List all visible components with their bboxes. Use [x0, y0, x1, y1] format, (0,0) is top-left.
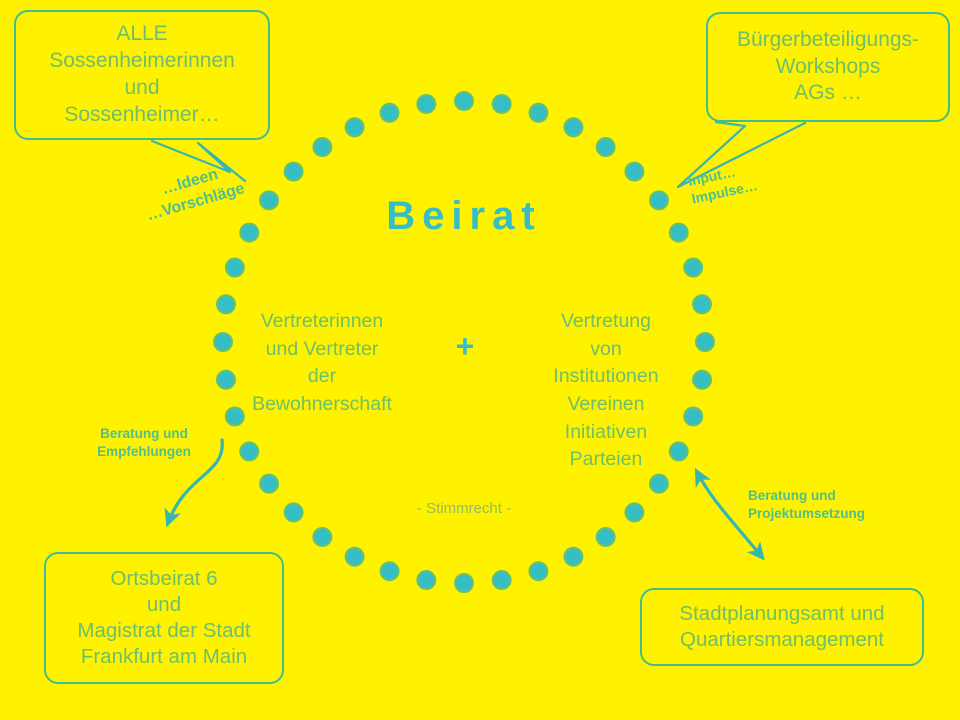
plus-icon: + — [449, 330, 481, 362]
speech-bubble-workshops-text: Bürgerbeteiligungs- Workshops AGs … — [708, 27, 948, 108]
page-title: Beirat — [224, 196, 704, 236]
ring-dot — [455, 574, 473, 592]
ring-dot — [564, 548, 582, 566]
ring-dot — [260, 475, 278, 493]
ring-dot — [346, 118, 364, 136]
diagram-canvas: ALLE Sossenheimerinnen und Sossenheimer…… — [0, 0, 960, 720]
speech-bubble-workshops[interactable]: Bürgerbeteiligungs- Workshops AGs … — [706, 12, 950, 122]
ring-dot — [346, 548, 364, 566]
box-ortsbeirat-text: Ortsbeirat 6 und Magistrat der Stadt Fra… — [46, 566, 282, 671]
speech-bubble-residents[interactable]: ALLE Sossenheimerinnen und Sossenheimer… — [14, 10, 270, 140]
ring-dot — [381, 562, 399, 580]
column-bewohnerschaft: Vertreterinnen und Vertreter der Bewohne… — [224, 308, 420, 419]
ring-dot — [564, 118, 582, 136]
ring-dot — [226, 259, 244, 277]
stimmrecht-note: - Stimmrecht - — [344, 500, 584, 517]
column-institutionen: Vertretung von Institutionen Vereinen In… — [508, 308, 704, 474]
annotation-beratung-projektumsetzung: Beratung und Projektumsetzung — [748, 487, 918, 522]
ring-dot — [493, 571, 511, 589]
ring-dot — [529, 562, 547, 580]
ring-dot — [597, 528, 615, 546]
ring-dot — [285, 163, 303, 181]
ring-dot — [625, 163, 643, 181]
ring-dot — [285, 503, 303, 521]
annotation-beratung-empfehlungen: Beratung und Empfehlungen — [74, 425, 214, 460]
ring-dot — [625, 503, 643, 521]
ring-dot — [381, 104, 399, 122]
ring-dot — [417, 571, 435, 589]
speech-bubble-residents-text: ALLE Sossenheimerinnen und Sossenheimer… — [16, 21, 268, 129]
ring-dot — [313, 528, 331, 546]
box-ortsbeirat[interactable]: Ortsbeirat 6 und Magistrat der Stadt Fra… — [44, 552, 284, 684]
ring-dot — [650, 475, 668, 493]
beirat-center-group: Beirat — [224, 196, 704, 236]
ring-dot — [597, 138, 615, 156]
box-stadtplanungsamt-text: Stadtplanungsamt und Quartiersmanagement — [642, 601, 922, 653]
ring-dot — [417, 95, 435, 113]
ring-dot — [529, 104, 547, 122]
ring-dot — [684, 259, 702, 277]
box-stadtplanungsamt[interactable]: Stadtplanungsamt und Quartiersmanagement — [640, 588, 924, 666]
ring-dot — [493, 95, 511, 113]
ring-dot — [313, 138, 331, 156]
ring-dot — [455, 92, 473, 110]
